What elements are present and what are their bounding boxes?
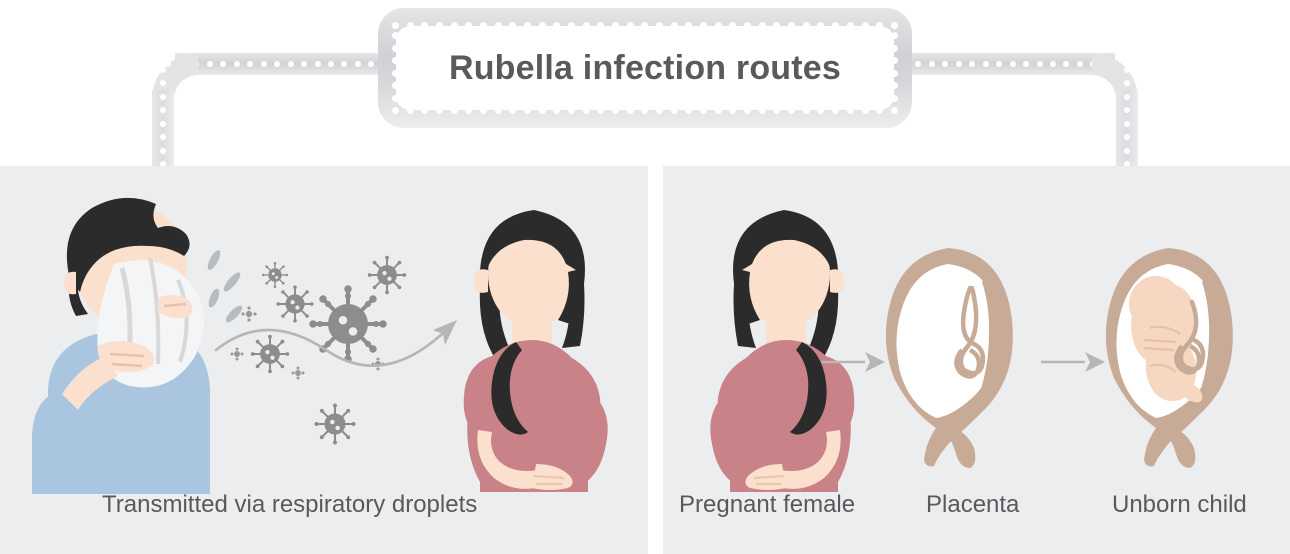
- panel-vertical-transmission: Pregnant female Placenta Unborn child: [663, 166, 1290, 554]
- panel-transmission: Transmitted via respiratory droplets: [0, 166, 648, 554]
- connector-left-corner-dots: [160, 53, 186, 75]
- connector-left-horizontal-dots: [175, 53, 393, 75]
- placenta-icon: [878, 242, 1018, 472]
- step-label-pregnant-female: Pregnant female: [679, 491, 855, 519]
- pregnant-woman-left-figure: [450, 192, 620, 502]
- connector-left-vertical-dots: [152, 62, 174, 172]
- placenta-figure: [878, 242, 1018, 472]
- title-plaque: Rubella infection routes: [378, 8, 912, 128]
- infographic-root: Rubella infection routes: [0, 0, 1290, 554]
- step-label-placenta: Placenta: [926, 491, 1019, 519]
- page-title: Rubella infection routes: [449, 49, 841, 88]
- unborn-child-icon: [1098, 242, 1238, 472]
- curved-arrow-icon: [214, 312, 474, 392]
- title-inner-card: Rubella infection routes: [396, 26, 894, 110]
- pregnant-woman-icon: [698, 192, 868, 502]
- connector-right-vertical-dots: [1116, 62, 1138, 172]
- left-panel-caption: Transmitted via respiratory droplets: [102, 491, 477, 519]
- pregnant-female-figure: [698, 192, 868, 502]
- connector-right-horizontal-dots: [897, 53, 1115, 75]
- unborn-child-figure: [1098, 242, 1238, 472]
- transmission-arrow: [214, 312, 474, 392]
- pregnant-woman-icon: [450, 192, 620, 502]
- step-label-unborn-child: Unborn child: [1112, 491, 1247, 519]
